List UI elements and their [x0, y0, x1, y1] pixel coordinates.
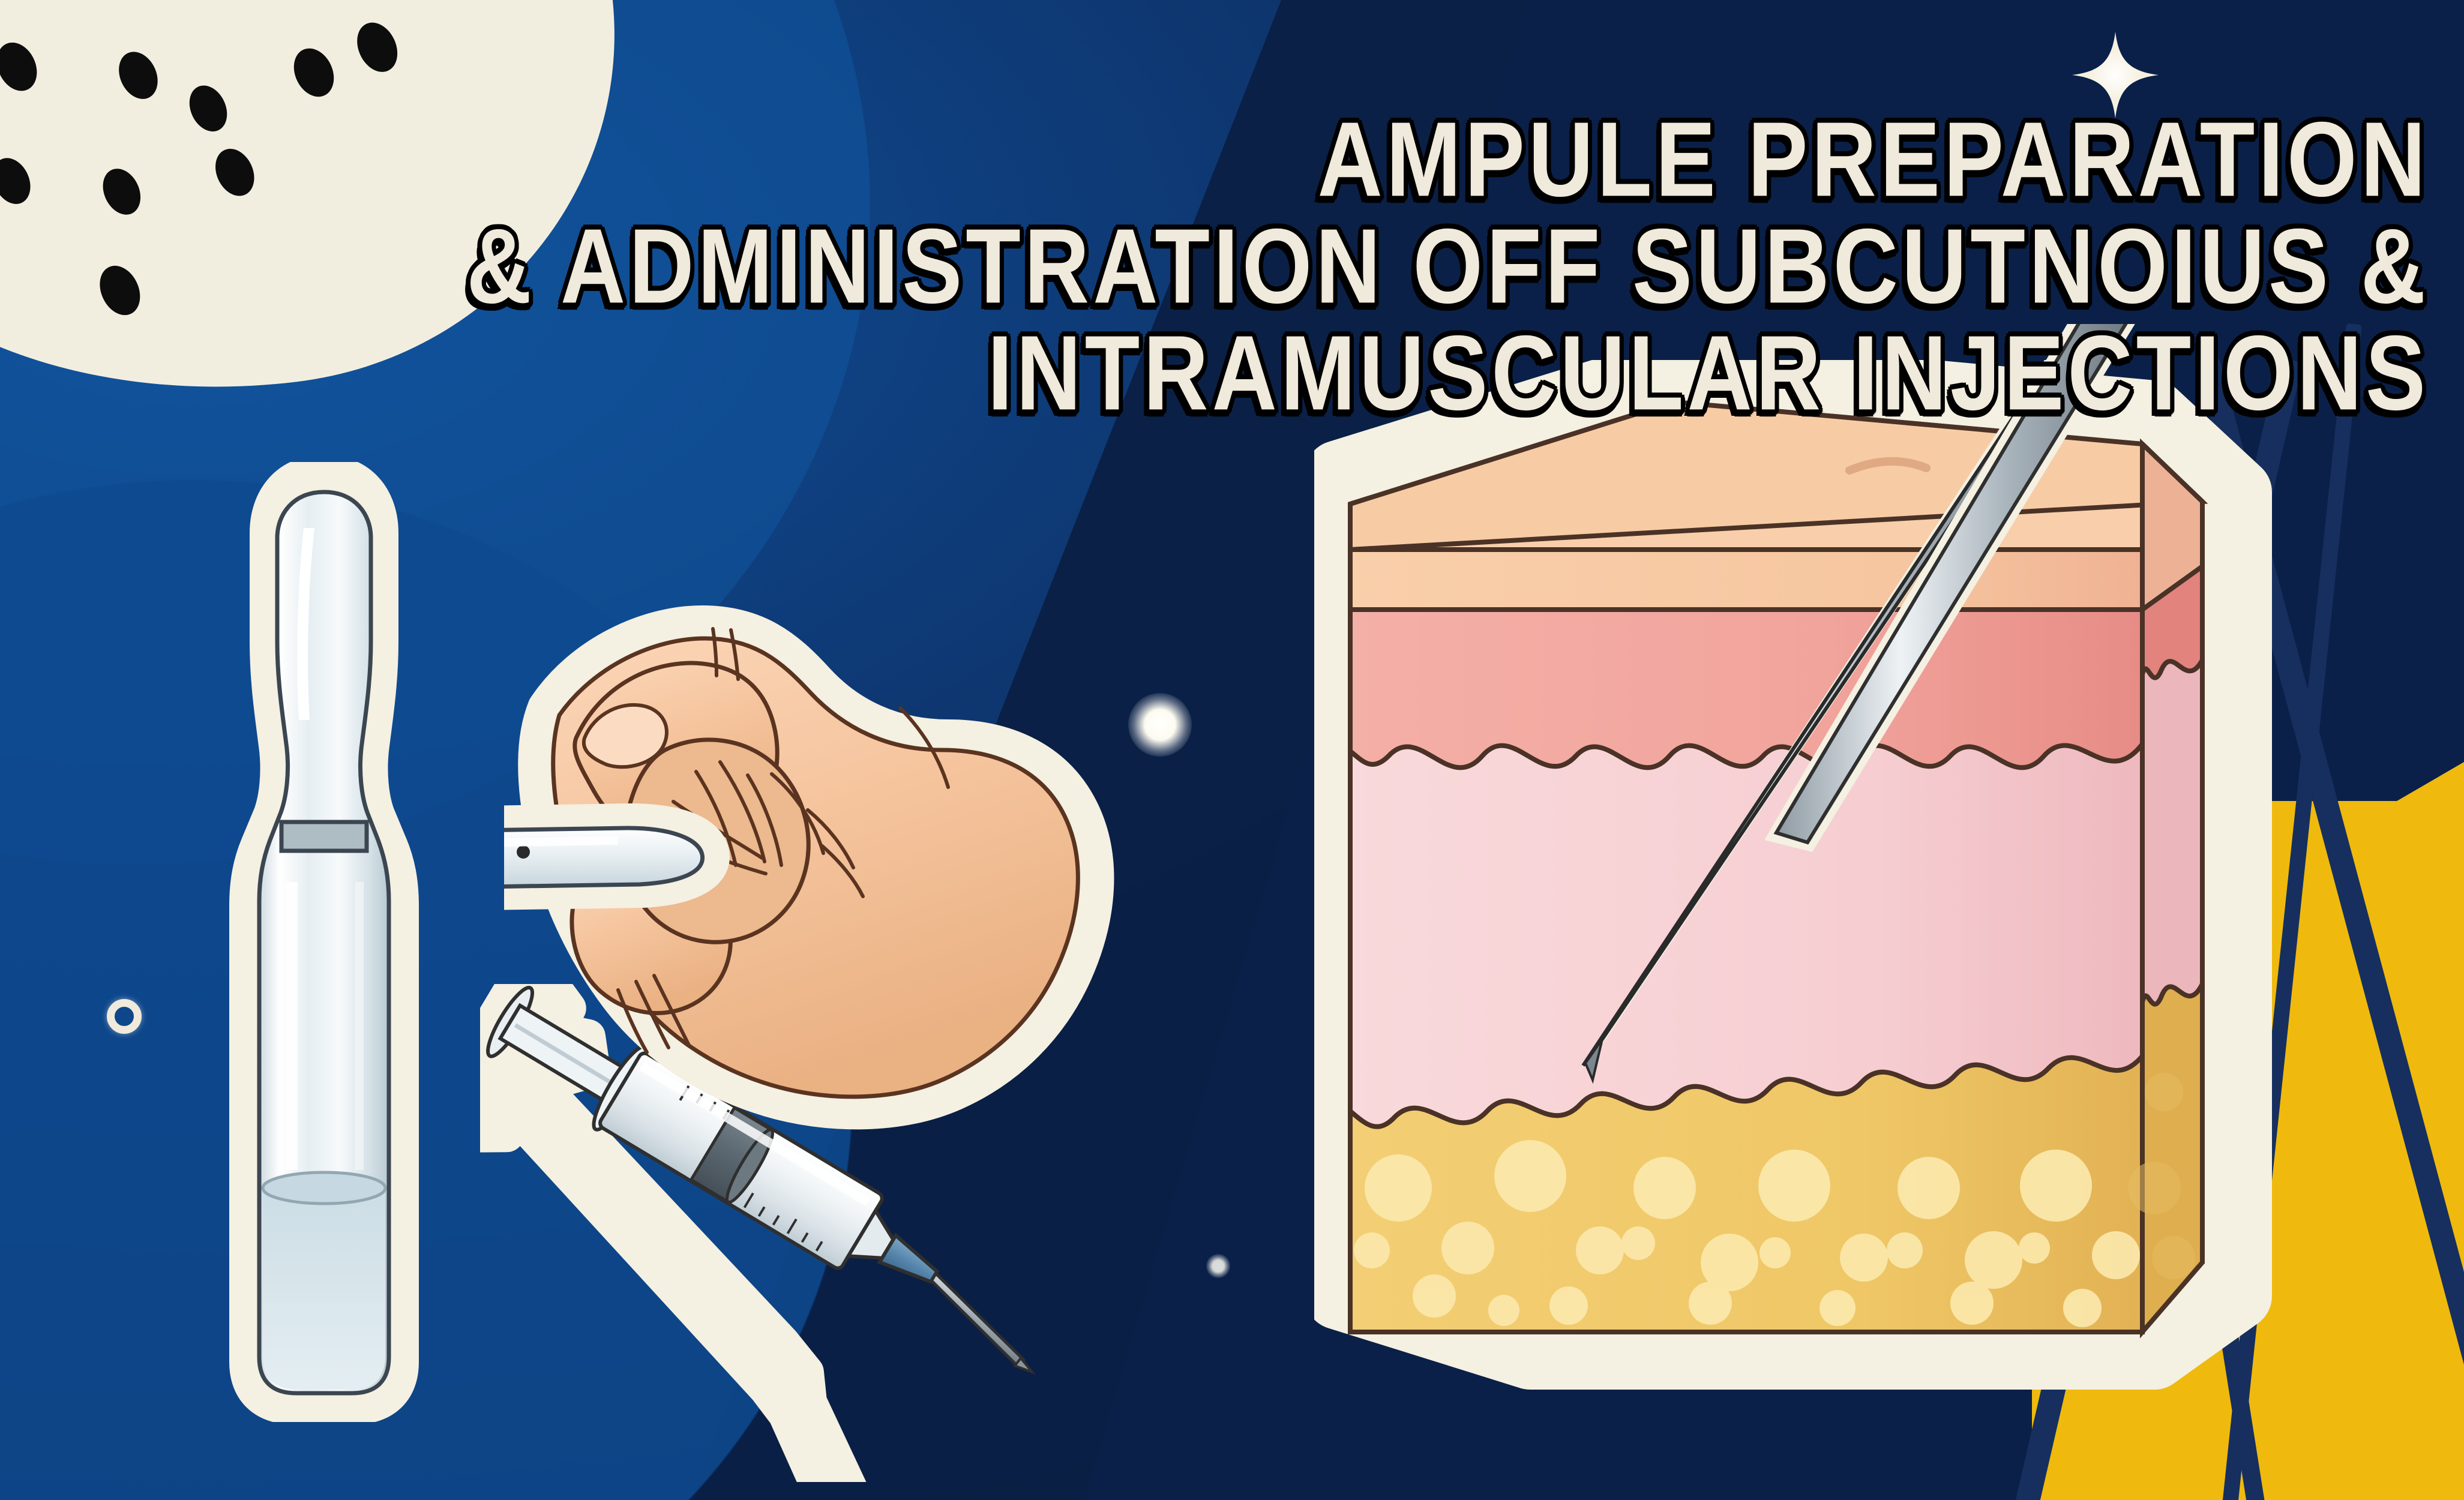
hand-holding-ampoule-tip: [504, 558, 1188, 1158]
ampoule-illustration: [198, 462, 450, 1422]
syringe-needle: [917, 1274, 1039, 1367]
ampoule-liquid: [263, 1188, 385, 1390]
blob-dot: [96, 163, 148, 221]
blob-dot: [0, 152, 37, 210]
blob-dot: [349, 16, 405, 79]
poster-canvas: AMPULE PREPARATION & ADMINISTRATION OFF …: [0, 0, 2464, 1500]
title-line-1: AMPULE PREPARATION: [389, 106, 2429, 212]
title-line-2: & ADMINISTRATION OFF SUBCUTNOIUS &: [389, 213, 2429, 319]
blob-dot: [182, 79, 234, 137]
ampoule-score-band: [281, 822, 367, 851]
poster-title: AMPULE PREPARATION & ADMINISTRATION OFF …: [389, 114, 2429, 434]
blob-dot: [208, 142, 262, 202]
blob-dot: [112, 46, 165, 106]
ring-outline-icon: [107, 999, 142, 1034]
blob-dot: [286, 42, 341, 103]
ampoule-broken-tip: [504, 820, 714, 894]
blob-dot: [92, 259, 148, 322]
title-line-3: INTRAMUSCULAR INJECTIONS: [389, 320, 2429, 426]
blob-dot: [0, 36, 44, 97]
